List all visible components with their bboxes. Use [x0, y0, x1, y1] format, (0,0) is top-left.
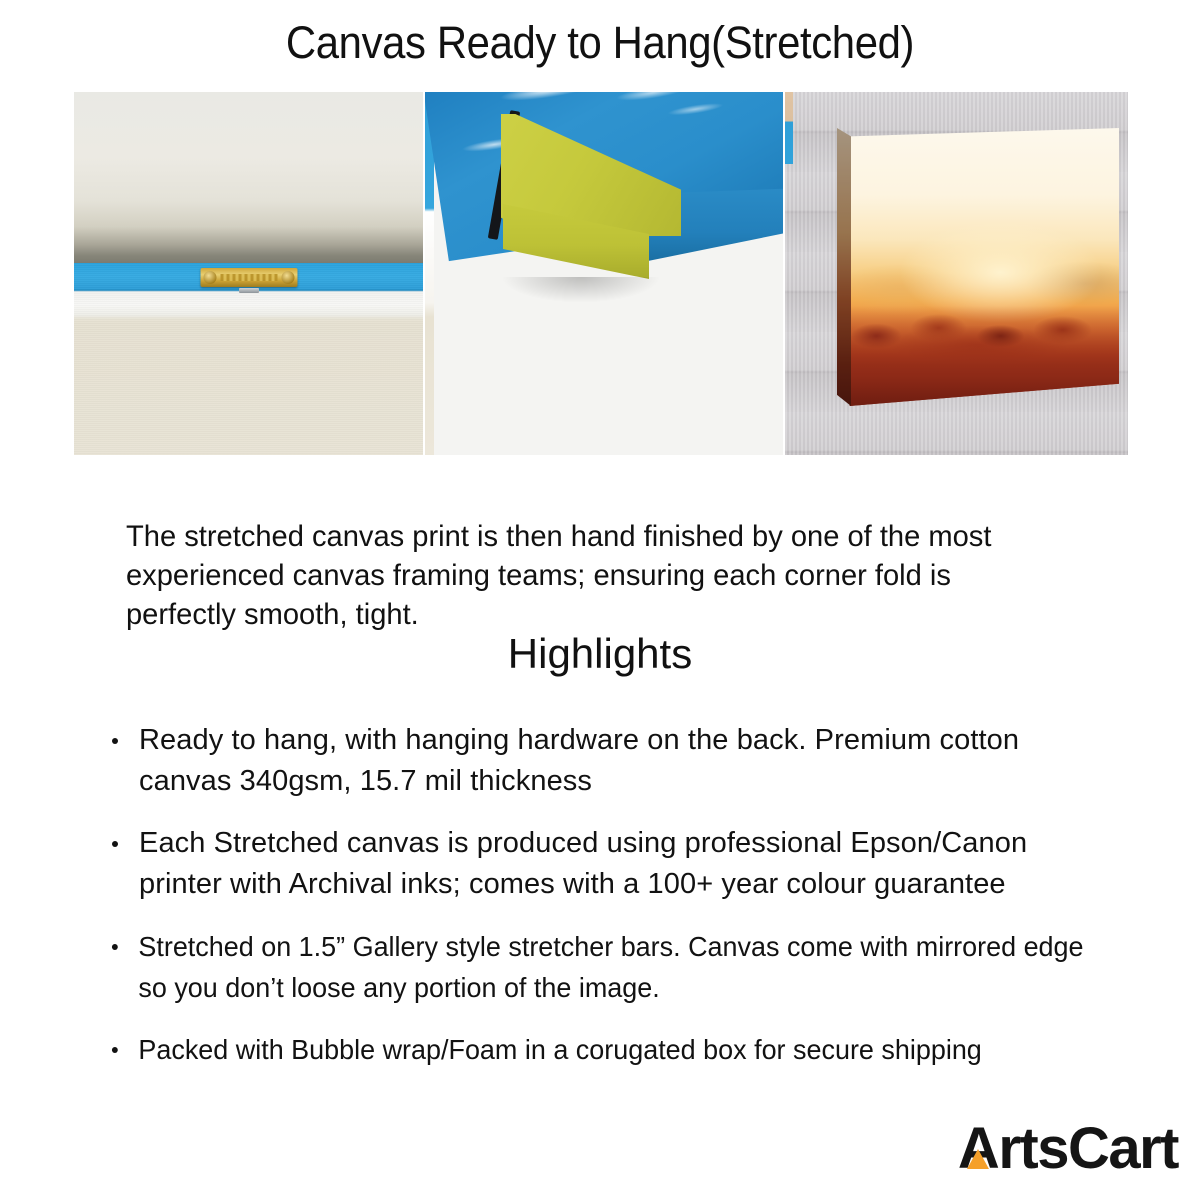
- bullet-dot-icon: [112, 1047, 118, 1053]
- product-photo-hung-canvas[interactable]: [785, 92, 1128, 455]
- adjacent-photo-sliver: [785, 92, 793, 164]
- highlight-item-text: Each Stretched canvas is produced using …: [139, 827, 1027, 900]
- sunset-landscape-artwork: [837, 128, 1119, 406]
- canvas-gallery-wrap-edge: [837, 128, 851, 406]
- page-title: Canvas Ready to Hang(Stretched): [42, 18, 1158, 68]
- product-photo-corner-fold[interactable]: [425, 92, 783, 455]
- highlight-item: Each Stretched canvas is produced using …: [108, 823, 1118, 905]
- brand-logo-cart-text: Cart: [1068, 1120, 1178, 1178]
- bullet-dot-icon: [112, 944, 118, 950]
- brand-logo-rts-text: rts: [998, 1120, 1068, 1178]
- product-photo-strip: [74, 92, 1128, 455]
- product-photo-hanging-hardware[interactable]: [74, 92, 423, 455]
- flap-drop-shadow: [501, 277, 661, 303]
- bullet-dot-icon: [112, 738, 118, 744]
- highlight-item-text: Stretched on 1.5” Gallery style stretche…: [138, 931, 1083, 1003]
- brand-triangle-icon: [967, 1149, 989, 1169]
- highlight-item-text: Packed with Bubble wrap/Foam in a coruga…: [138, 1034, 981, 1065]
- intro-paragraph: The stretched canvas print is then hand …: [126, 517, 1038, 634]
- wall-nail-icon: [239, 288, 259, 293]
- highlight-item: Stretched on 1.5” Gallery style stretche…: [108, 926, 1098, 1008]
- highlight-item: Packed with Bubble wrap/Foam in a coruga…: [108, 1029, 1098, 1070]
- highlights-list: Ready to hang, with hanging hardware on …: [108, 720, 1118, 1091]
- sawtooth-hanger-icon: [200, 268, 297, 287]
- highlight-item-text: Ready to hang, with hanging hardware on …: [139, 724, 1019, 797]
- hanger-teeth: [220, 274, 277, 281]
- highlights-heading: Highlights: [0, 630, 1200, 678]
- bullet-dot-icon: [112, 841, 118, 847]
- highlight-item: Ready to hang, with hanging hardware on …: [108, 720, 1118, 802]
- brand-logo[interactable]: A rtsCart: [958, 1120, 1178, 1178]
- brand-logo-letter-a: A: [958, 1120, 998, 1178]
